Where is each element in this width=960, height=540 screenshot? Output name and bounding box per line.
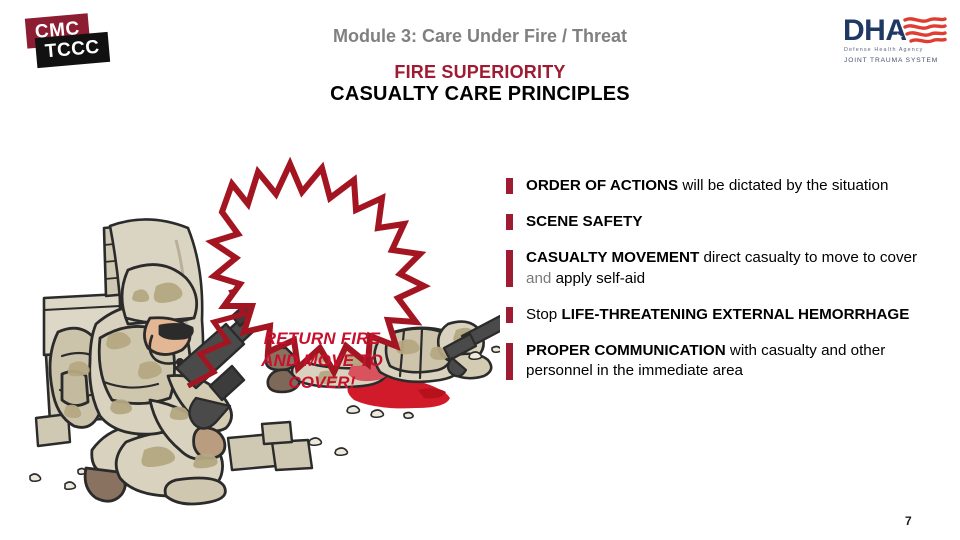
bullet-text: ORDER OF ACTIONS will be dictated by the… bbox=[526, 176, 938, 196]
bullet-lead-2: SCENE SAFETY bbox=[526, 213, 642, 230]
page-number: 7 bbox=[905, 514, 912, 528]
bullet-text: SCENE SAFETY bbox=[526, 212, 938, 232]
dha-subtitle-agency: Defense Health Agency bbox=[844, 47, 923, 53]
callout-line-1: RETURN FIRE bbox=[222, 328, 422, 350]
list-item: SCENE SAFETY bbox=[506, 212, 938, 232]
bullet-mid-3: direct casualty to move to cover bbox=[699, 249, 917, 266]
bullet-rest-1: will be dictated by the situation bbox=[678, 177, 888, 194]
page-title: CASUALTY CARE PRINCIPLES bbox=[0, 83, 960, 106]
bullet-accent-bar bbox=[506, 343, 513, 379]
list-item: Stop LIFE-THREATENING EXTERNAL HEMORRHAG… bbox=[506, 305, 938, 325]
bullet-accent-bar bbox=[506, 307, 513, 323]
ground-debris-left bbox=[30, 469, 86, 490]
bullet-tail-3: apply self-aid bbox=[551, 270, 645, 287]
bullet-accent-bar bbox=[506, 214, 513, 230]
bullet-lead-1: ORDER OF ACTIONS bbox=[526, 177, 678, 194]
slide-subtitle-accent: FIRE SUPERIORITY bbox=[0, 62, 960, 83]
callout-line-3: COVER! bbox=[222, 372, 422, 394]
bullet-accent-bar bbox=[506, 250, 513, 286]
care-under-fire-illustration: RETURN FIRE AND MOVE TO COVER! bbox=[0, 150, 500, 540]
list-item: CASUALTY MOVEMENT direct casualty to mov… bbox=[506, 248, 938, 288]
module-title: Module 3: Care Under Fire / Threat bbox=[0, 26, 960, 47]
bullet-text: CASUALTY MOVEMENT direct casualty to mov… bbox=[526, 248, 938, 288]
bullet-lead-3: CASUALTY MOVEMENT bbox=[526, 249, 699, 266]
bullet-dim-word-3: and bbox=[526, 270, 551, 287]
bullet-lead-4: LIFE-THREATENING EXTERNAL HEMORRHAGE bbox=[561, 306, 909, 323]
callout-line-2: AND MOVE TO bbox=[222, 350, 422, 372]
bullet-text: PROPER COMMUNICATION with casualty and o… bbox=[526, 341, 938, 381]
list-item: ORDER OF ACTIONS will be dictated by the… bbox=[506, 176, 938, 196]
callout-text: RETURN FIRE AND MOVE TO COVER! bbox=[222, 328, 422, 393]
bullet-lead-plain-4: Stop bbox=[526, 306, 561, 323]
bullet-lead-5: PROPER COMMUNICATION bbox=[526, 342, 726, 359]
bullet-text: Stop LIFE-THREATENING EXTERNAL HEMORRHAG… bbox=[526, 305, 938, 325]
casualty-care-principles-list: ORDER OF ACTIONS will be dictated by the… bbox=[506, 176, 938, 398]
list-item: PROPER COMMUNICATION with casualty and o… bbox=[506, 341, 938, 381]
bullet-accent-bar bbox=[506, 178, 513, 194]
